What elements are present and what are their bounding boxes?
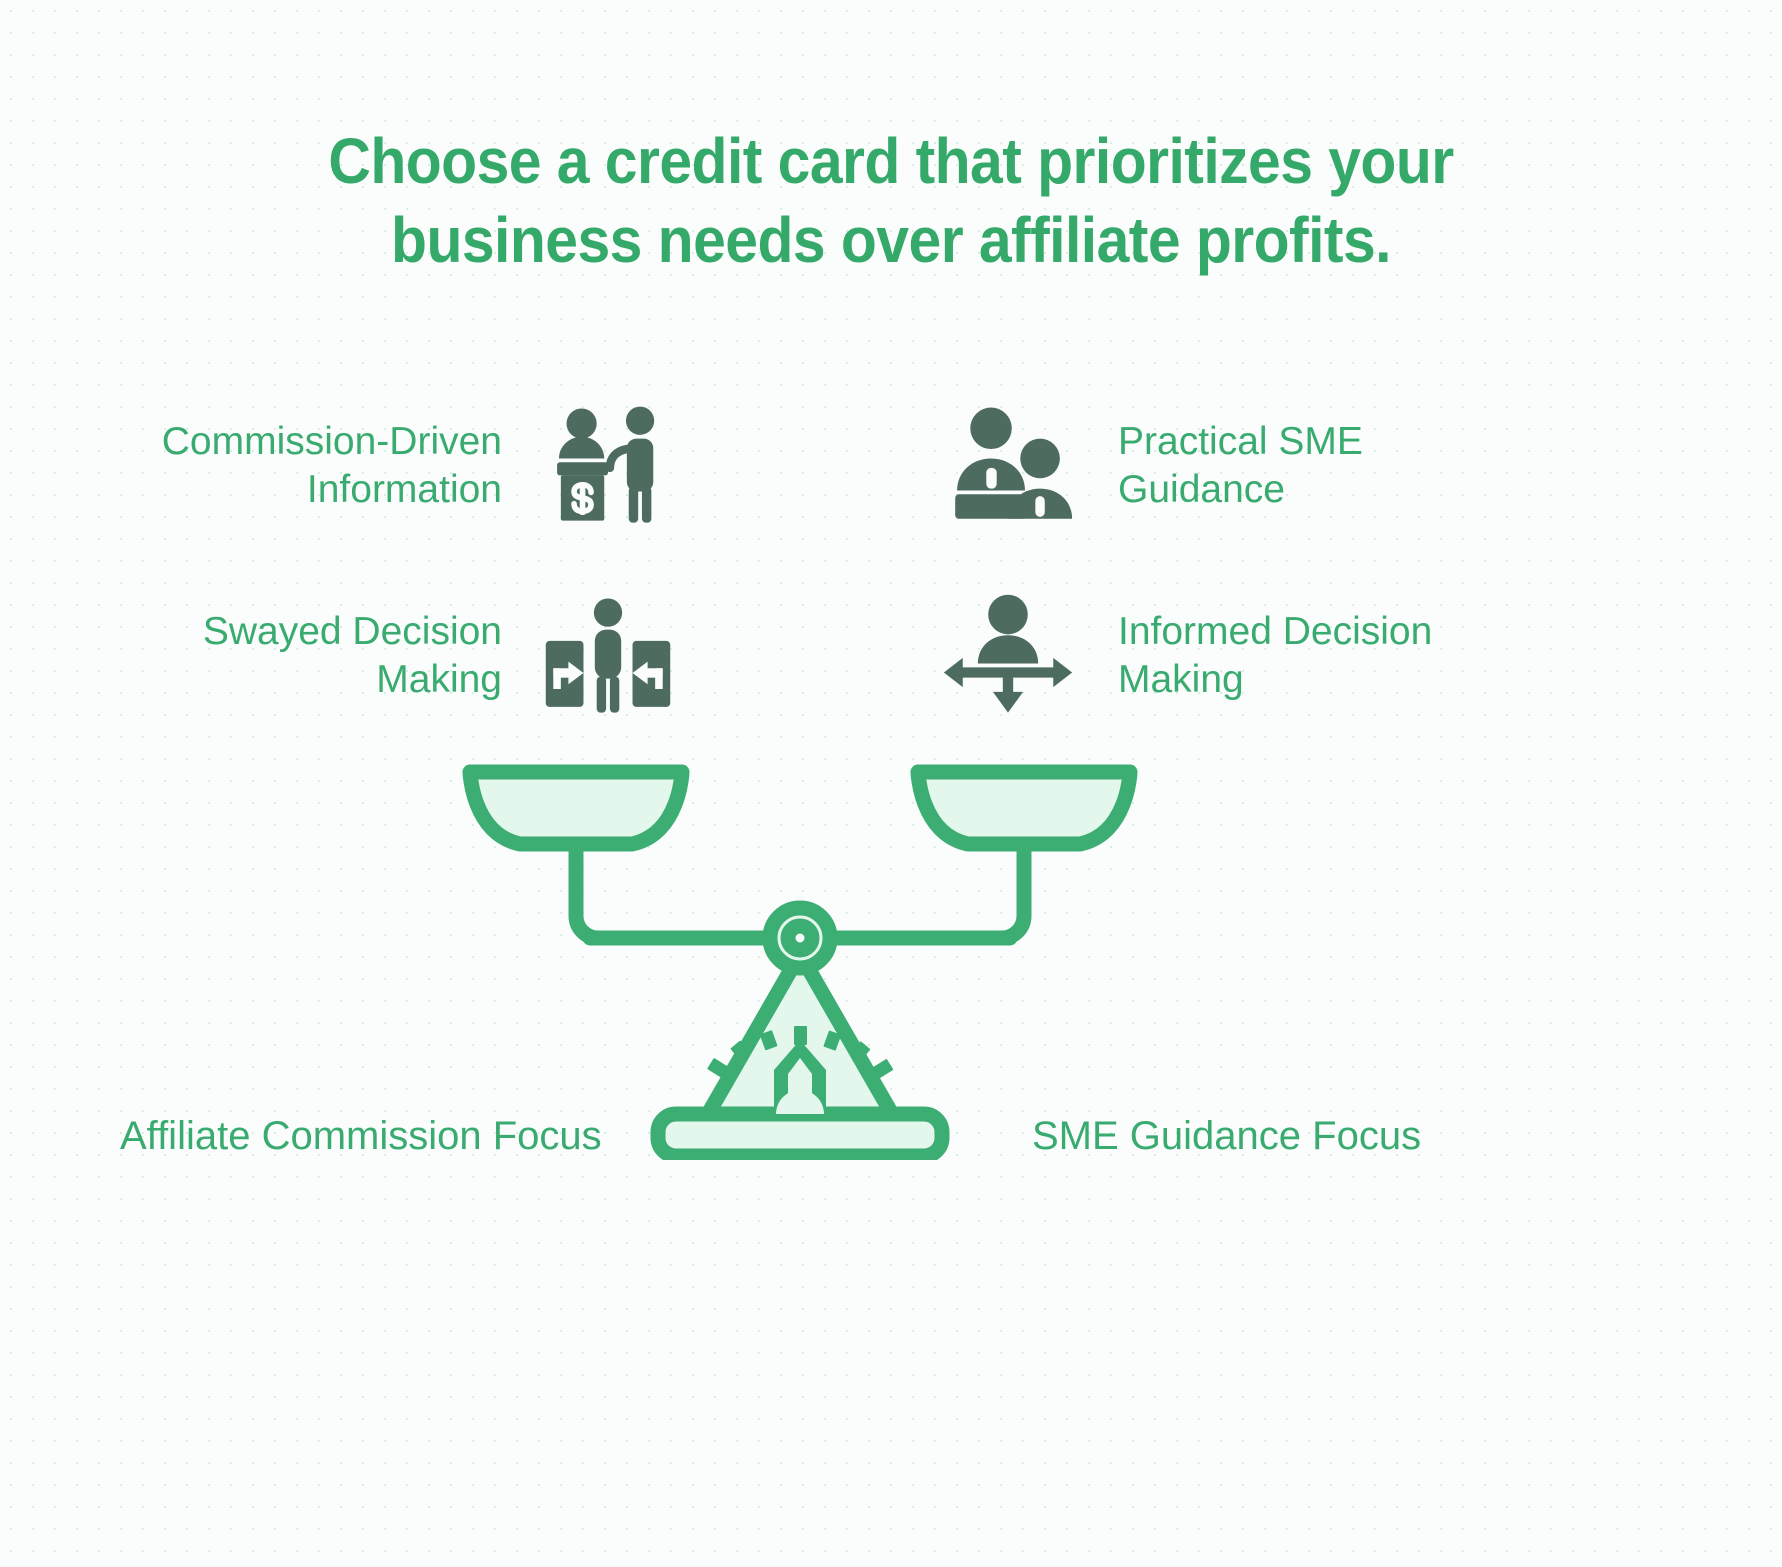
person-with-four-way-arrows-icon xyxy=(938,586,1078,726)
balance-scale-icon xyxy=(440,740,1160,1160)
feature-right-informed-decision-label: Informed Decision Making xyxy=(1118,608,1432,703)
feature-right-practical-sme-guidance: Practical SME Guidance xyxy=(938,396,1498,536)
page-title: Choose a credit card that prioritizes yo… xyxy=(71,122,1710,281)
feature-left-swayed-decision-label: Swayed Decision Making xyxy=(203,608,502,703)
person-pushed-by-arrows-icon xyxy=(538,586,678,726)
infographic-canvas: Choose a credit card that prioritizes yo… xyxy=(0,0,1782,1567)
focus-caption-left: Affiliate Commission Focus xyxy=(120,1112,602,1160)
feature-left-commission-driven-label: Commission-Driven Information xyxy=(162,418,502,513)
feature-left-swayed-decision: Swayed Decision Making xyxy=(118,586,678,726)
focus-caption-right: SME Guidance Focus xyxy=(1032,1112,1421,1160)
feature-right-practical-sme-guidance-label: Practical SME Guidance xyxy=(1118,418,1363,513)
person-at-cash-counter-icon xyxy=(538,396,678,536)
two-advisors-icon xyxy=(938,396,1078,536)
feature-left-commission-driven: Commission-Driven Information xyxy=(118,396,678,536)
feature-right-informed-decision: Informed Decision Making xyxy=(938,586,1498,726)
